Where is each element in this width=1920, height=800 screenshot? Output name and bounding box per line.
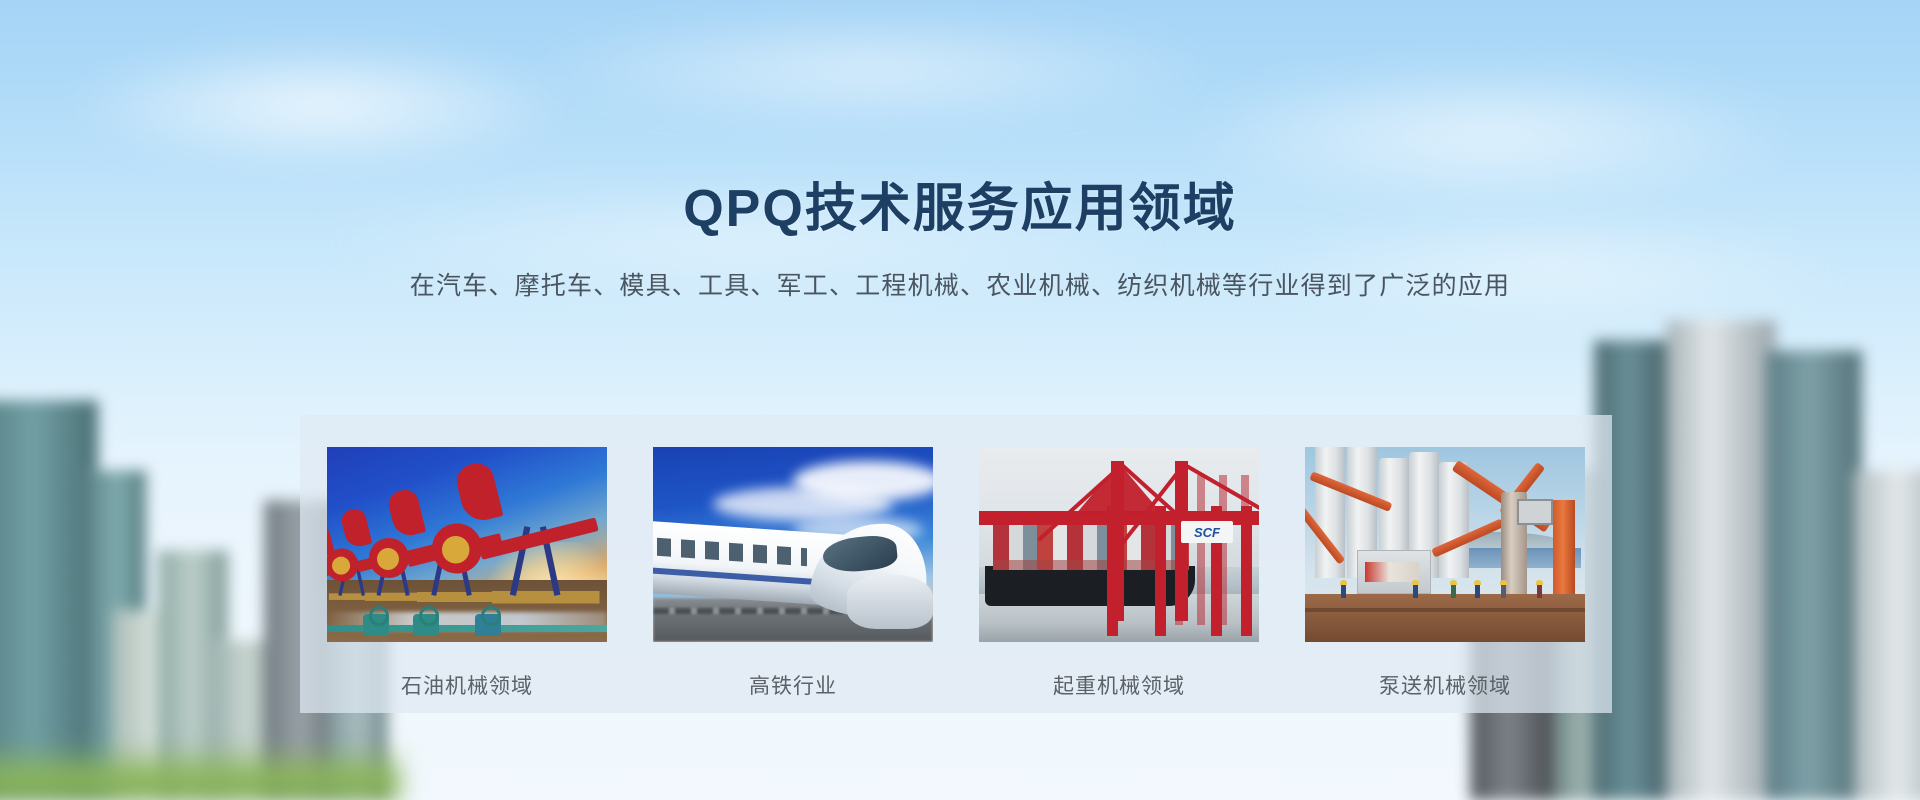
card-lifting-machinery[interactable]: SCF 起重机械领域	[979, 447, 1259, 700]
building	[0, 400, 98, 800]
card-label: 石油机械领域	[327, 670, 607, 700]
high-speed-train-image[interactable]	[653, 447, 933, 642]
heading-block: QPQ技术服务应用领域 在汽车、摩托车、模具、工具、军工、工程机械、农业机械、纺…	[0, 180, 1920, 302]
card-pumping-machinery[interactable]: 泵送机械领域	[1305, 447, 1585, 700]
card-oil-machinery[interactable]: 石油机械领域	[327, 447, 607, 700]
port-crane-image[interactable]: SCF	[979, 447, 1259, 642]
cloud-wisp-icon	[60, 40, 580, 170]
scf-logo: SCF	[1181, 521, 1233, 543]
card-high-speed-rail[interactable]: 高铁行业	[653, 447, 933, 700]
building	[1666, 320, 1776, 800]
card-label: 起重机械领域	[979, 670, 1259, 700]
card-label: 泵送机械领域	[1305, 670, 1585, 700]
building	[1766, 350, 1862, 800]
card-label: 高铁行业	[653, 670, 933, 700]
page-subtitle: 在汽车、摩托车、模具、工具、军工、工程机械、农业机械、纺织机械等行业得到了广泛的…	[0, 266, 1920, 302]
tree-line	[0, 744, 400, 800]
page-title: QPQ技术服务应用领域	[0, 180, 1920, 240]
card-list: 石油机械领域 高铁行业	[300, 415, 1612, 713]
oil-pumpjack-image[interactable]	[327, 447, 607, 642]
application-fields-panel: 石油机械领域 高铁行业	[300, 415, 1612, 713]
cloud-wisp-icon	[520, 10, 1220, 130]
building	[1854, 470, 1920, 800]
concrete-pump-image[interactable]	[1305, 447, 1585, 642]
